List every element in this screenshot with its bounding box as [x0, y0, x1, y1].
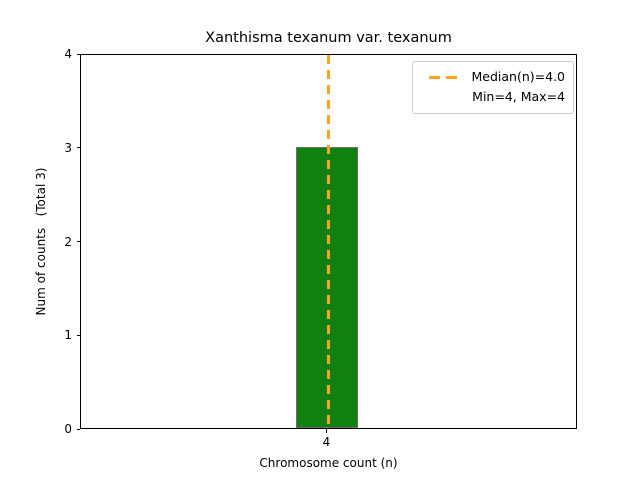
legend-label-minmax: Min=4, Max=4: [472, 89, 565, 105]
x-tick-label: 4: [297, 434, 357, 450]
legend-blank-handle-icon: [429, 96, 463, 99]
legend-label-median: Median(n)=4.0: [472, 69, 566, 85]
y-tick-label: 1: [64, 327, 72, 343]
y-tick-label: 2: [64, 234, 72, 250]
legend-item-median: Median(n)=4.0: [421, 67, 565, 87]
median-line: [327, 55, 330, 430]
dashed-line-icon: [429, 76, 463, 79]
y-axis-label: Num of counts (Total 3): [32, 54, 50, 429]
figure-canvas: Xanthisma texanum var. texanum 01234 4 C…: [0, 0, 640, 480]
y-tick-label: 3: [64, 140, 72, 156]
y-tick-label: 4: [64, 46, 72, 62]
x-axis-label: Chromosome count (n): [80, 455, 577, 471]
legend-item-minmax: Min=4, Max=4: [421, 87, 565, 107]
legend-box: Median(n)=4.0 Min=4, Max=4: [412, 61, 574, 114]
y-tick-label: 0: [64, 421, 72, 437]
page-title: Xanthisma texanum var. texanum: [80, 29, 577, 47]
